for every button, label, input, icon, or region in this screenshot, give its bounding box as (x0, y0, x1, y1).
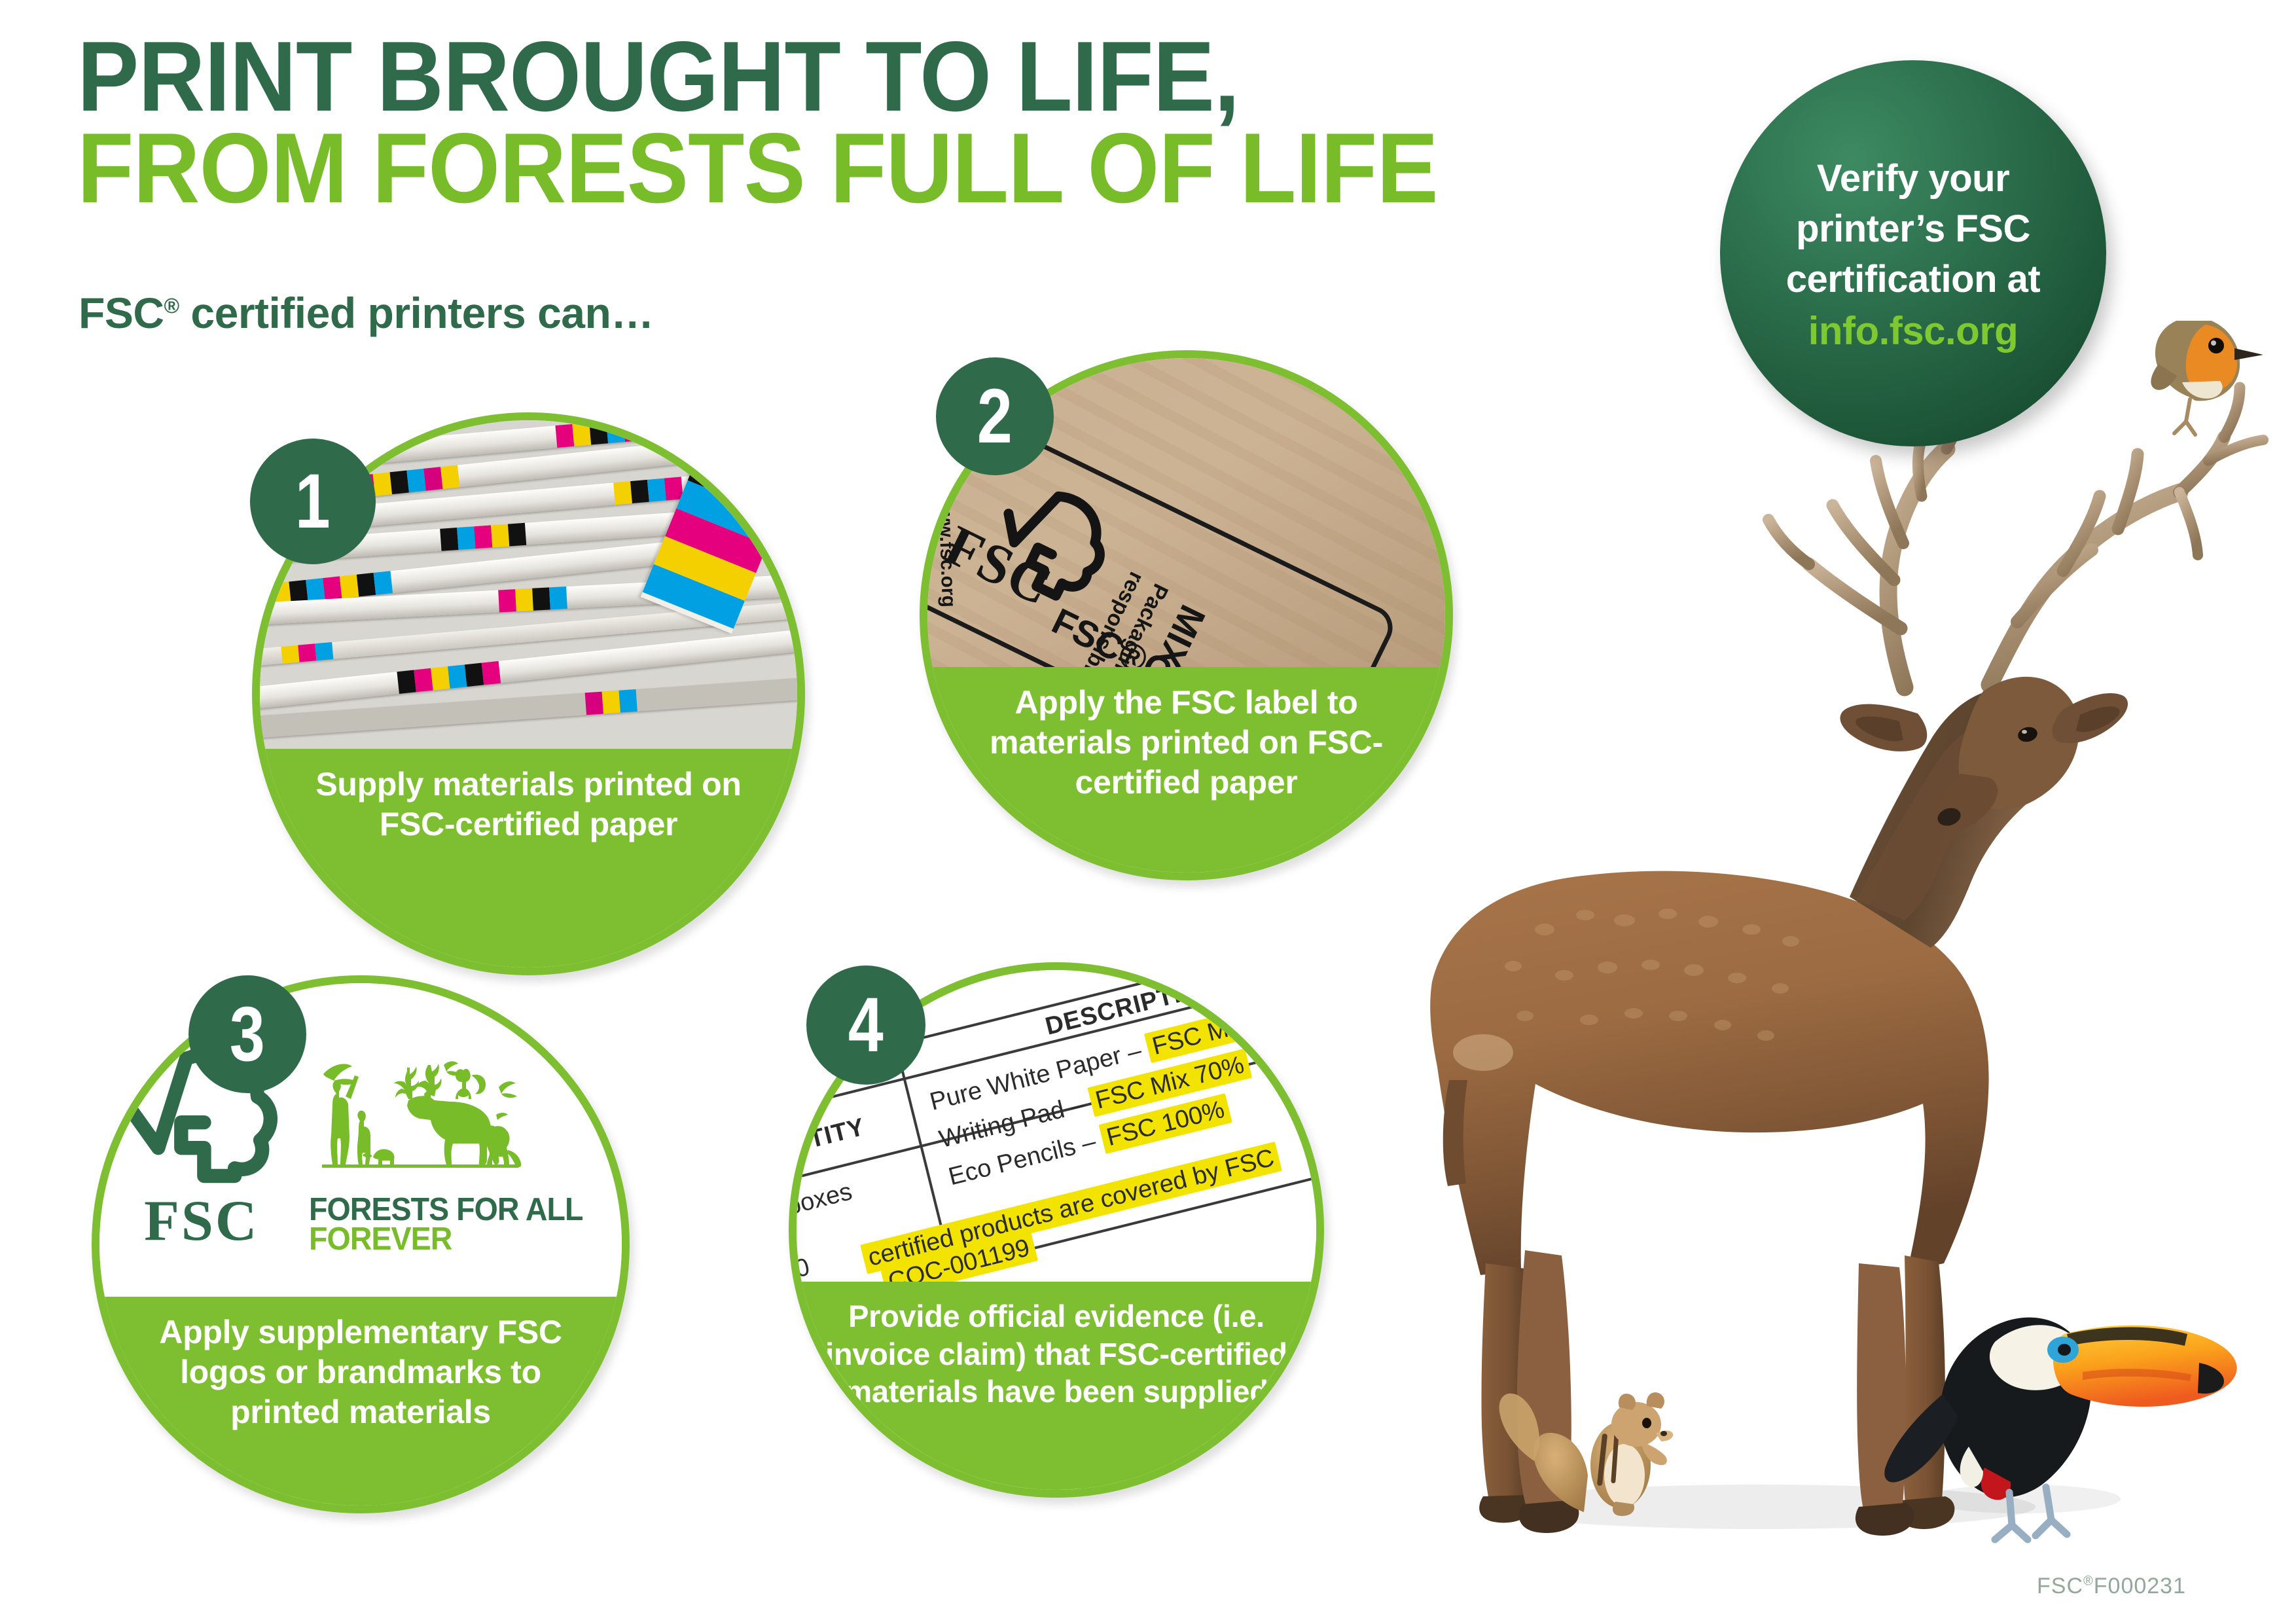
robin-figure (2151, 321, 2263, 435)
invoice-col-quantity-header: QUANTITY (797, 1113, 868, 1173)
step-number-1: 1 (295, 463, 331, 540)
step-1-caption-band: Supply materials printed on FSC-certifie… (260, 749, 797, 967)
fsc-wordmark: FSC (124, 1188, 279, 1254)
step-3-caption-band: Apply supplementary FSC logos or brandma… (99, 1297, 622, 1506)
verify-line-3: certification at (1786, 254, 2040, 304)
footer-license-code: FSC®F000231 (2037, 1574, 2186, 1599)
brandmark-animal-silhouettes (309, 1058, 525, 1189)
subheading-prefix: FSC (79, 289, 164, 337)
page-title: PRINT BROUGHT TO LIFE, FROM FORESTS FULL… (77, 31, 1661, 215)
headline-line-1: PRINT BROUGHT TO LIFE, (77, 31, 1551, 123)
step-3-caption: Apply supplementary FSC logos or brandma… (99, 1312, 622, 1432)
step-4-caption: Provide official evidence (i.e. invoice … (797, 1297, 1316, 1410)
footer-code: F000231 (2094, 1574, 2186, 1598)
forests-for-all-forever-brandmark: TM (309, 1058, 598, 1254)
label-website-text: www.fsc.org (933, 491, 960, 607)
step-number-badge-4: 4 (806, 965, 925, 1085)
verify-url-link[interactable]: info.fsc.org (1808, 308, 2018, 353)
wildlife-photo-group (1329, 321, 2291, 1564)
step-number-badge-3: 3 (188, 975, 306, 1093)
step-number-2: 2 (977, 378, 1013, 455)
wildlife-illustration (1329, 321, 2291, 1564)
verify-certification-badge[interactable]: Verify your printer’s FSC certification … (1720, 60, 2106, 446)
trademark-icon: TM (598, 1062, 622, 1090)
verify-line-2: printer’s FSC (1796, 204, 2030, 254)
registered-mark-icon: ® (2083, 1574, 2094, 1589)
step-1-caption: Supply materials printed on FSC-certifie… (260, 765, 797, 844)
subheading: FSC® certified printers can… (79, 288, 654, 338)
fsc-logos-graphic: FSC TM (99, 983, 622, 1297)
footer-prefix: FSC (2037, 1574, 2083, 1598)
verify-line-1: Verify your (1817, 153, 2009, 204)
invoice-footnote-1: certified products are covered by FSC (860, 1144, 1282, 1274)
step-4-caption-band: Provide official evidence (i.e. invoice … (797, 1282, 1316, 1490)
step-card-3[interactable]: FSC TM (92, 975, 630, 1513)
step-number-badge-2: 2 (936, 357, 1054, 475)
brandmark-line-2: FOREVER (309, 1225, 583, 1254)
headline-line-2: FROM FORESTS FULL OF LIFE (77, 123, 1551, 215)
subheading-text: certified printers can… (179, 289, 654, 337)
invoice-qty-3: 100 (797, 1254, 812, 1282)
step-number-4: 4 (848, 986, 884, 1064)
invoice-footnote-line-1: certified products are covered by FSC (860, 1142, 1283, 1275)
registered-mark-icon: ® (164, 294, 179, 317)
invoice-qty-1: 10 boxes (797, 1178, 855, 1230)
step-number-3: 3 (230, 996, 265, 1073)
step-number-badge-1: 1 (250, 439, 376, 564)
brandmark-line-1: FORESTS FOR ALL (309, 1195, 583, 1225)
